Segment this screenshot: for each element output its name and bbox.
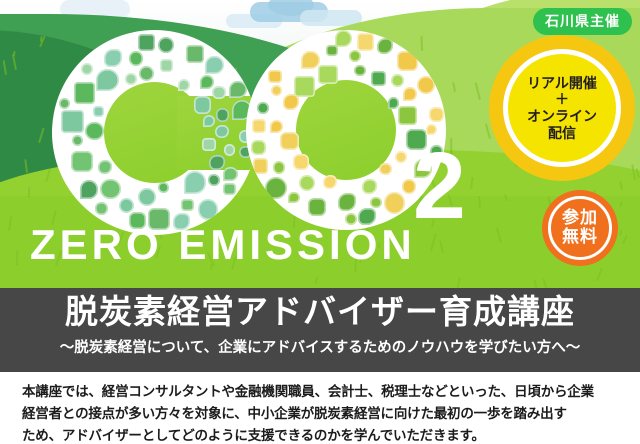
cow-icon (229, 81, 246, 98)
sprout-icon (96, 69, 119, 92)
shopping-bag-icon (81, 63, 93, 75)
recycle-icon (202, 138, 216, 152)
eco-text-icon (388, 97, 400, 109)
airplane-icon (98, 160, 112, 174)
poster-root: 2 ZERO EMISSION 石川県主催 リアル開催 ＋ オンライン 配信 参… (0, 0, 640, 444)
co2-cloud-icon (129, 51, 144, 66)
electric-car-icon (268, 70, 282, 84)
nuclear-icon (294, 76, 315, 97)
hand-plant-icon (384, 192, 406, 214)
shopping-bag-icon (391, 74, 404, 87)
oil-drum-icon (71, 151, 93, 173)
briefcase-eco-icon (326, 45, 338, 57)
co2-cloud-icon (85, 122, 104, 141)
zero-emission-tagline: ZERO EMISSION (30, 224, 416, 266)
solar-panel-icon (208, 174, 219, 185)
power-plug-icon (158, 182, 169, 193)
tree-icon (398, 106, 418, 126)
hand-plant-icon (271, 85, 282, 96)
fee-badge-inner: 参加 無料 (548, 196, 612, 260)
truck-icon (138, 34, 155, 51)
format-line-1: リアル開催 (527, 75, 597, 92)
format-line-3: オンライン (527, 108, 597, 125)
page-subtitle: 〜脱炭素経営について、企業にアドバイスするためのノウハウを学びたい方へ〜 (0, 338, 640, 358)
thermometer-icon (186, 45, 204, 63)
globe-icon (194, 96, 212, 114)
fee-badge: 参加 無料 (542, 190, 618, 266)
tree-icon (184, 171, 207, 194)
logo-subscript-2: 2 (413, 146, 464, 226)
fee-line-2: 無料 (562, 228, 598, 247)
nuclear-icon (178, 79, 190, 91)
whale-icon (265, 177, 287, 199)
electric-car-icon (200, 75, 214, 89)
hand-plant-icon (215, 125, 229, 139)
sprout-icon (203, 115, 215, 127)
globe-icon (301, 51, 320, 70)
fish-bone-icon (100, 179, 120, 199)
format-line-4: 配信 (527, 125, 597, 142)
lightbulb-recycle-icon (223, 167, 238, 182)
scales-icon (270, 120, 284, 134)
leaf-icon (280, 132, 298, 150)
page-title: 脱炭素経営アドバイザー育成講座 (0, 290, 640, 334)
oil-drum-icon (95, 202, 108, 215)
water-drop-icon (349, 50, 362, 63)
earth-leaf-icon (61, 110, 84, 133)
description-section: 本講座では、経営コンサルタントや金融機関職員、会計士、税理士などといった、日頃か… (0, 372, 640, 444)
format-badge: リアル開催 ＋ オンライン 配信 (496, 42, 628, 174)
wind-turbine-icon (224, 144, 236, 156)
cow-icon (371, 71, 387, 87)
solar-panel-icon (209, 155, 224, 170)
warning-icon (139, 66, 154, 81)
logo-letter-c (52, 30, 257, 235)
lightbulb-recycle-icon (357, 33, 375, 51)
rocket-icon (93, 106, 104, 117)
title-bar: 脱炭素経営アドバイザー育成講座 〜脱炭素経営について、企業にアドバイスするための… (0, 288, 640, 372)
hero-banner: 2 ZERO EMISSION 石川県主催 リアル開催 ＋ オンライン 配信 参… (0, 0, 640, 288)
lightbulb-recycle-icon (252, 119, 266, 133)
truck-icon (377, 38, 394, 55)
format-line-2: ＋ (527, 91, 597, 108)
description-line-2: 経営者との接点が多い方々を対象に、中小企業が脱炭素経営に向けた最初の一歩を踏み出… (22, 403, 622, 425)
format-badge-inner: リアル開催 ＋ オンライン 配信 (503, 49, 621, 167)
power-plug-icon (417, 76, 435, 94)
earth-leaf-icon (379, 163, 392, 176)
description-line-1: 本講座では、経営コンサルタントや金融機関職員、会計士、税理士などといった、日頃か… (22, 381, 622, 403)
fee-line-1: 参加 (562, 209, 598, 228)
solar-panel-icon (354, 65, 365, 76)
battery-icon (223, 183, 236, 196)
flame-globe-icon (273, 161, 286, 174)
whale-icon (216, 108, 230, 122)
trash-bin-icon (308, 198, 327, 217)
rocket-icon (370, 197, 382, 209)
truck-icon (338, 193, 356, 211)
factory-icon (288, 192, 299, 203)
water-drop-icon (104, 49, 122, 67)
description-line-3: ため、アドバイザーとしてどのように支援できるのかを学んでいただきます。 (22, 425, 622, 444)
recycle-icon (160, 59, 173, 72)
shopping-bag-icon (299, 175, 315, 191)
recycle-icon (362, 179, 377, 194)
briefcase-eco-icon (80, 180, 99, 199)
scales-icon (403, 87, 417, 101)
fish-bone-icon (429, 107, 444, 122)
power-tower-icon (335, 30, 352, 47)
fee-badge-text: 参加 無料 (562, 209, 598, 246)
power-tower-icon (212, 86, 225, 99)
leaf-icon (138, 188, 157, 207)
eco-text-icon (59, 98, 70, 109)
format-badge-text: リアル開催 ＋ オンライン 配信 (527, 75, 597, 141)
sprout-icon (253, 158, 269, 174)
tree-icon (205, 56, 224, 75)
airplane-icon (395, 151, 407, 163)
battery-icon (323, 175, 337, 189)
sun-icon (72, 135, 83, 146)
bicycle-icon (74, 82, 95, 103)
wind-turbine-icon (125, 73, 137, 85)
sun-icon (257, 102, 269, 114)
co2-cloud-icon (397, 51, 418, 72)
battery-icon (181, 199, 193, 211)
wind-turbine-icon (251, 140, 266, 155)
host-badge: 石川県主催 (533, 8, 632, 35)
grass-stroke (16, 250, 18, 266)
leaf-icon (119, 198, 134, 213)
flame-globe-icon (198, 199, 218, 219)
nuclear-icon (318, 65, 338, 85)
trash-bin-icon (158, 37, 174, 53)
fish-bone-icon (293, 154, 309, 170)
